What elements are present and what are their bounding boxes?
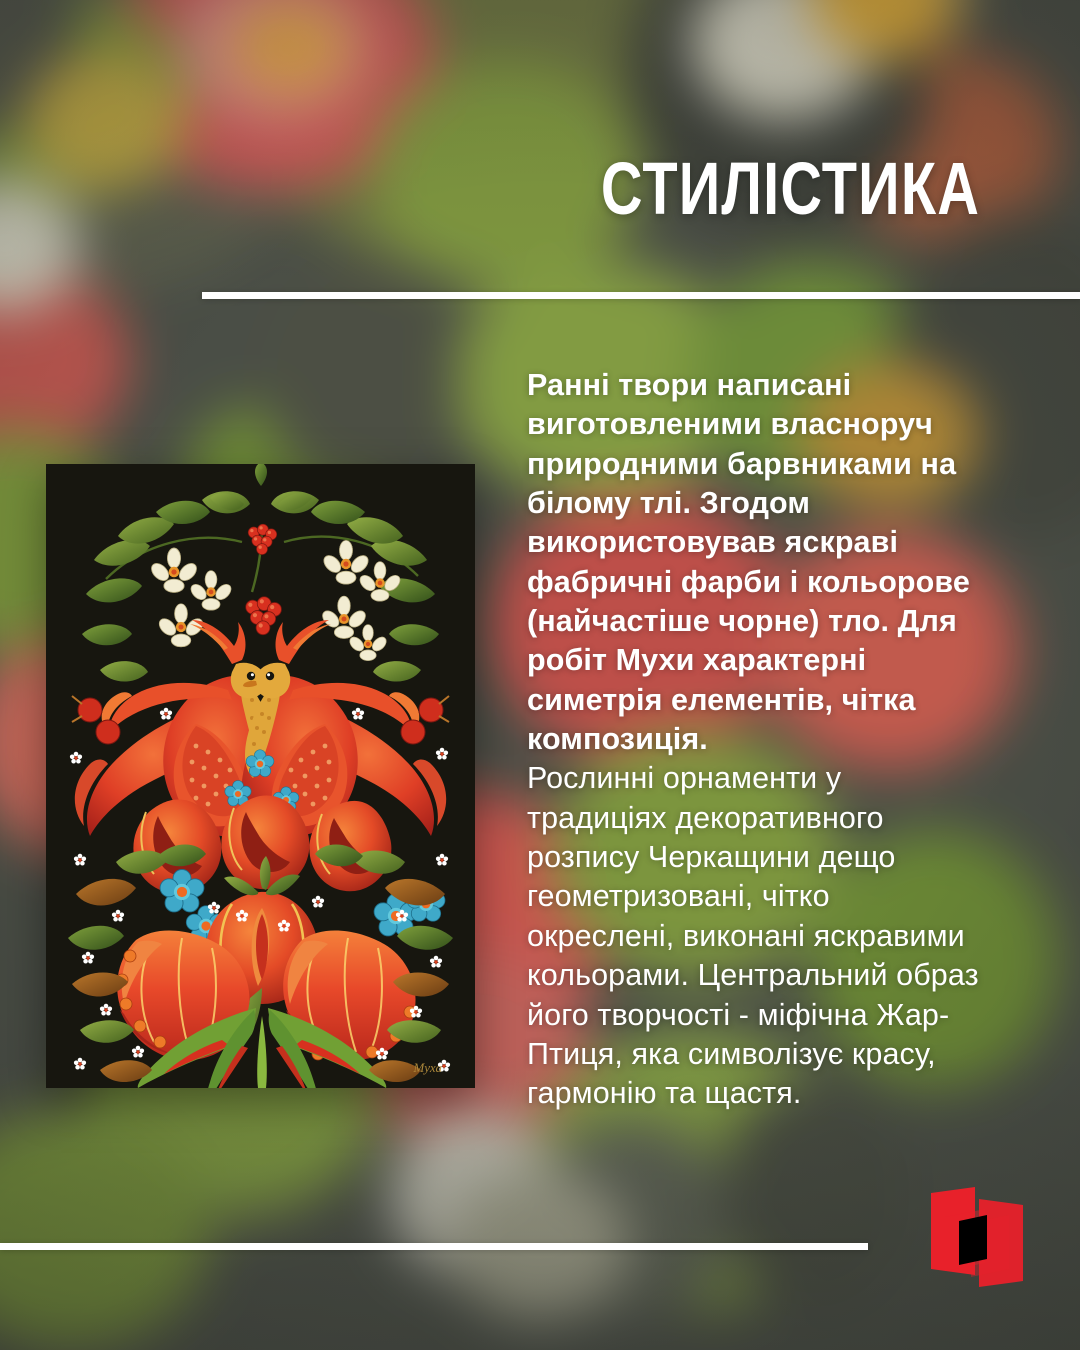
brand-logo[interactable] xyxy=(925,1183,1029,1287)
divider-bottom xyxy=(0,1243,868,1250)
paragraph-secondary: Рослинні орнаменти у традиціях декоратив… xyxy=(527,759,979,1113)
artwork-signature: Муха xyxy=(412,1060,442,1075)
paragraph-primary: Ранні твори написані виготовленими власн… xyxy=(527,366,979,759)
petrykivka-painting-image: Муха xyxy=(46,464,475,1088)
body-copy: Ранні твори написані виготовленими власн… xyxy=(527,366,979,1114)
slide-root: СТИЛІСТИКА xyxy=(0,0,1080,1350)
page-title: СТИЛІСТИКА xyxy=(601,152,980,226)
divider-top xyxy=(202,292,1080,299)
